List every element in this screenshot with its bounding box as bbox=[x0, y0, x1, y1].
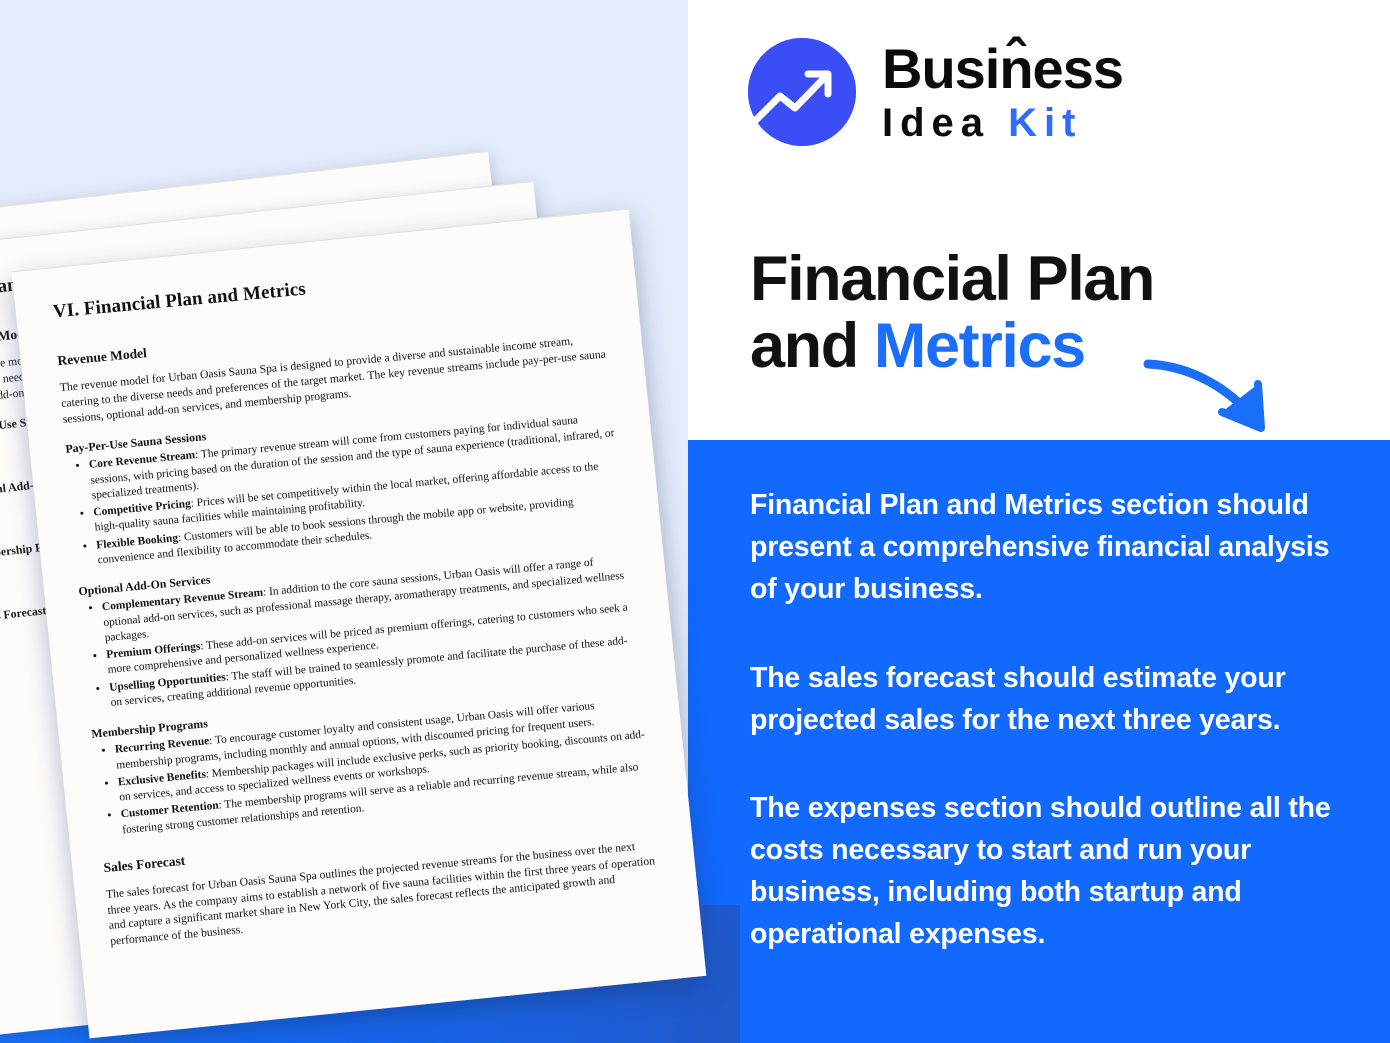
slide-canvas: VI. Financial Plan and Metrics Revenue M… bbox=[0, 0, 1390, 1043]
brand-name-kit: Kit bbox=[1008, 101, 1082, 145]
brand-name-line1: Busin̂ess bbox=[882, 41, 1123, 97]
brand-name-idea: Idea bbox=[882, 101, 990, 145]
panel-paragraph-3: The expenses section should outline all … bbox=[750, 787, 1350, 956]
document-stack: VI. Financial Plan and Metrics Revenue M… bbox=[0, 0, 760, 1043]
brand-name-line2: Idea Kit bbox=[882, 103, 1123, 143]
brand-logo: Busin̂ess Idea Kit bbox=[748, 38, 1123, 146]
document-content: VI. Financial Plan and Metrics Revenue M… bbox=[15, 213, 695, 953]
headline-line-1: Financial Plan bbox=[750, 246, 1310, 313]
brand-wordmark: Busin̂ess Idea Kit bbox=[882, 41, 1123, 143]
curved-arrow-down-right-icon bbox=[1140, 348, 1310, 448]
headline-and: and bbox=[750, 311, 874, 381]
panel-paragraph-1: Financial Plan and Metrics section shoul… bbox=[750, 484, 1350, 611]
trending-up-chart-circle-icon bbox=[748, 38, 856, 146]
panel-copy: Financial Plan and Metrics section shoul… bbox=[750, 484, 1350, 956]
headline-accent: Metrics bbox=[874, 311, 1085, 381]
document-page-front: VI. Financial Plan and Metrics Revenue M… bbox=[12, 209, 707, 1039]
panel-paragraph-2: The sales forecast should estimate your … bbox=[750, 657, 1350, 741]
